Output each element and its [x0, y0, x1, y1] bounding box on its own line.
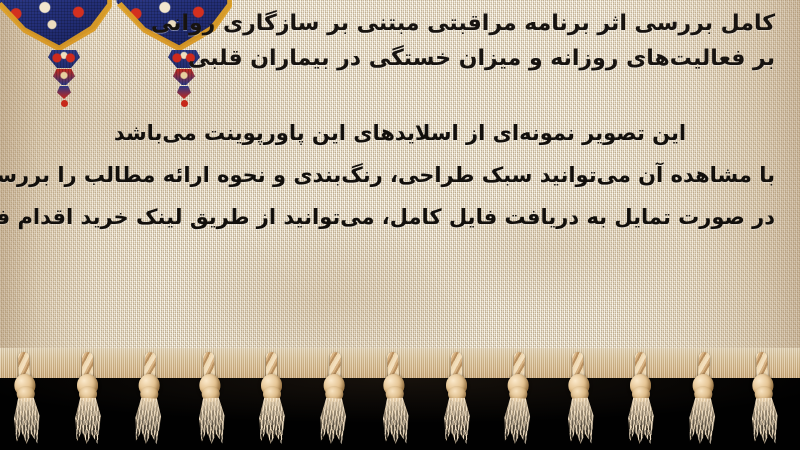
fringe-tassel — [129, 351, 167, 448]
tassel-brush — [258, 398, 286, 444]
tassel-brush — [381, 397, 411, 444]
persian-medallion-ornament — [0, 0, 112, 52]
carpet-fringe — [0, 352, 800, 450]
tassel-brush — [502, 397, 532, 444]
fringe-tassel — [375, 351, 413, 448]
slide-body-text: این تصویر نمونه‌ای از اسلایدهای این پاور… — [25, 112, 775, 238]
presentation-slide: کامل بررسی اثر برنامه مراقبتی مبتنی بر س… — [0, 0, 800, 450]
slide-title: کامل بررسی اثر برنامه مراقبتی مبتنی بر س… — [215, 6, 775, 76]
body-line-3: در صورت تمایل به دریافت فایل کامل، می‌تو… — [25, 196, 775, 238]
tassel-brush — [687, 397, 717, 444]
fringe-tassel — [683, 351, 721, 448]
pendant-segment-tip — [181, 100, 188, 107]
pendant-segment-middle — [53, 69, 75, 85]
tassel-brush — [443, 398, 471, 444]
tassel-brush — [74, 398, 102, 444]
fringe-tassel — [623, 352, 657, 448]
tassel-brush — [318, 397, 348, 444]
fringe-tassel — [254, 352, 288, 448]
tassel-brush — [12, 397, 42, 444]
tassel-brush — [750, 397, 780, 444]
tassel-brush — [566, 397, 596, 444]
pendant-segment-tip — [61, 100, 68, 107]
fringe-tassel — [6, 351, 44, 448]
pendant-segment-top — [48, 50, 80, 68]
body-line-2: با مشاهده آن می‌توانید سبک طراحی، رنگ‌بن… — [25, 154, 775, 196]
title-line-1: کامل بررسی اثر برنامه مراقبتی مبتنی بر س… — [215, 6, 775, 41]
tassel-brush — [133, 397, 163, 444]
title-line-2: بر فعالیت‌های روزانه و میزان خستگی در بی… — [215, 41, 775, 76]
tassel-brush — [627, 398, 655, 444]
fringe-tassel — [70, 352, 104, 448]
fringe-tassel — [439, 352, 473, 448]
pendant-segment-lower — [177, 86, 191, 99]
fringe-tassel — [314, 351, 352, 448]
tassel-brush — [197, 397, 227, 444]
pendant-segment-lower — [57, 86, 71, 99]
fringe-tassel — [560, 351, 598, 448]
fringe-tassel — [498, 351, 536, 448]
body-line-1: این تصویر نمونه‌ای از اسلایدهای این پاور… — [25, 112, 775, 154]
fringe-tassel — [744, 351, 782, 448]
medallion-pendant-ornament — [42, 50, 86, 106]
fringe-tassel — [191, 351, 229, 448]
